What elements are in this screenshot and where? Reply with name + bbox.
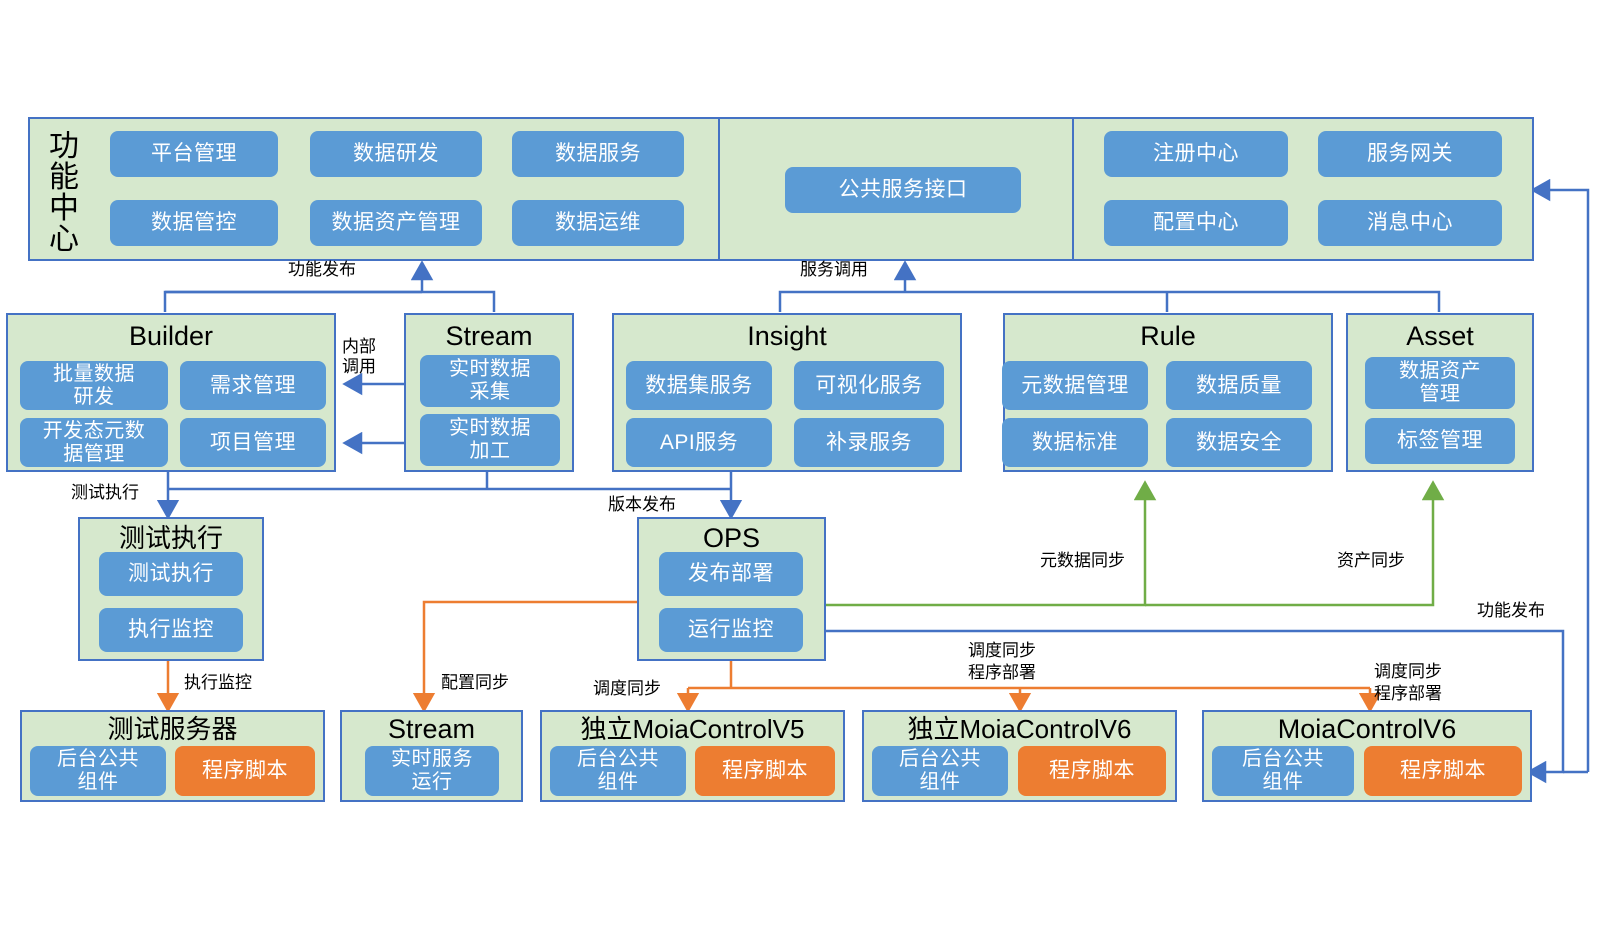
test-exec-chip-exec-monitor[interactable]: 执行监控 — [99, 608, 243, 652]
insight-chip-supplement-service[interactable]: 补录服务 — [794, 418, 944, 467]
fc-chip-public-service-api[interactable]: 公共服务接口 — [785, 167, 1021, 213]
label-schedule-deploy-right: 调度同步 程序部署 — [1374, 661, 1442, 705]
label-schedule-sync: 调度同步 — [593, 678, 661, 699]
fc-chip-data-ops[interactable]: 数据运维 — [512, 200, 684, 246]
moia-v6-chip-program-script[interactable]: 程序脚本 — [1364, 746, 1522, 796]
label-schedule-deploy-mid: 调度同步 程序部署 — [968, 640, 1036, 684]
server-moia-v6-standalone-title: 独立MoiaControlV6 — [864, 714, 1175, 744]
ops-chip-runtime-monitor[interactable]: 运行监控 — [659, 608, 803, 652]
rule-chip-data-quality[interactable]: 数据质量 — [1166, 361, 1312, 410]
label-version-publish: 版本发布 — [608, 494, 676, 515]
function-center-label: 功 能 中 心 — [42, 131, 86, 255]
fc-chip-message-center[interactable]: 消息中心 — [1318, 200, 1502, 246]
builder-chip-dev-metadata-mgmt[interactable]: 开发态元数 据管理 — [20, 418, 168, 467]
label-exec-monitor: 执行监控 — [184, 672, 252, 693]
fc-separator-2 — [1072, 117, 1074, 261]
label-feature-publish-top: 功能发布 — [288, 259, 356, 280]
asset-chip-data-asset-mgmt[interactable]: 数据资产 管理 — [1365, 357, 1515, 409]
moia-v6-standalone-chip-backend-common[interactable]: 后台公共 组件 — [872, 746, 1008, 796]
architecture-diagram: 功 能 中 心 平台管理 数据研发 数据服务 数据管控 数据资产管理 数据运维 … — [0, 0, 1611, 940]
builder-chip-batch-data-dev[interactable]: 批量数据 研发 — [20, 361, 168, 410]
rule-chip-metadata-mgmt[interactable]: 元数据管理 — [1002, 361, 1148, 410]
module-rule-title: Rule — [1005, 321, 1331, 351]
fc-chip-data-dev[interactable]: 数据研发 — [310, 131, 482, 177]
test-server-chip-backend-common[interactable]: 后台公共 组件 — [30, 746, 166, 796]
asset-chip-tag-mgmt[interactable]: 标签管理 — [1365, 418, 1515, 464]
fc-separator-1 — [718, 117, 720, 261]
fc-chip-platform-mgmt[interactable]: 平台管理 — [110, 131, 278, 177]
fc-chip-data-service[interactable]: 数据服务 — [512, 131, 684, 177]
test-exec-chip-test-exec[interactable]: 测试执行 — [99, 552, 243, 596]
ops-chip-release-deploy[interactable]: 发布部署 — [659, 552, 803, 596]
builder-chip-project-mgmt[interactable]: 项目管理 — [180, 418, 326, 467]
server-moia-v6-title: MoiaControlV6 — [1204, 714, 1530, 744]
label-test-exec: 测试执行 — [71, 482, 139, 503]
label-config-sync: 配置同步 — [441, 672, 509, 693]
server-test-server-title: 测试服务器 — [22, 714, 323, 744]
stream-chip-realtime-process[interactable]: 实时数据 加工 — [420, 414, 560, 466]
moia-v6-standalone-chip-program-script[interactable]: 程序脚本 — [1018, 746, 1166, 796]
label-asset-sync: 资产同步 — [1337, 550, 1405, 571]
server-stream-title: Stream — [342, 714, 521, 744]
fc-chip-service-gateway[interactable]: 服务网关 — [1318, 131, 1502, 177]
insight-chip-visualization-service[interactable]: 可视化服务 — [794, 361, 944, 410]
module-asset-title: Asset — [1348, 321, 1532, 351]
moia-v5-chip-backend-common[interactable]: 后台公共 组件 — [550, 746, 686, 796]
moia-v5-chip-program-script[interactable]: 程序脚本 — [695, 746, 835, 796]
fc-chip-registry-center[interactable]: 注册中心 — [1104, 131, 1288, 177]
rule-chip-data-security[interactable]: 数据安全 — [1166, 418, 1312, 467]
fc-chip-data-asset-mgmt[interactable]: 数据资产管理 — [310, 200, 482, 246]
module-stream-title: Stream — [406, 321, 572, 351]
fc-chip-config-center[interactable]: 配置中心 — [1104, 200, 1288, 246]
stream-chip-realtime-collect[interactable]: 实时数据 采集 — [420, 355, 560, 407]
label-feature-publish-right: 功能发布 — [1477, 600, 1545, 621]
server-moia-v5-title: 独立MoiaControlV5 — [542, 714, 843, 744]
module-builder-title: Builder — [8, 321, 334, 351]
label-service-call: 服务调用 — [800, 259, 868, 280]
module-ops-title: OPS — [639, 523, 824, 553]
fc-chip-data-control[interactable]: 数据管控 — [110, 200, 278, 246]
stream-server-chip-realtime-runtime[interactable]: 实时服务 运行 — [365, 746, 499, 796]
test-server-chip-program-script[interactable]: 程序脚本 — [175, 746, 315, 796]
label-internal-call: 内部 调用 — [342, 337, 376, 377]
module-test-exec-title: 测试执行 — [80, 523, 262, 553]
moia-v6-chip-backend-common[interactable]: 后台公共 组件 — [1212, 746, 1354, 796]
label-metadata-sync: 元数据同步 — [1040, 550, 1125, 571]
module-insight-title: Insight — [614, 321, 960, 351]
builder-chip-requirement-mgmt[interactable]: 需求管理 — [180, 361, 326, 410]
insight-chip-dataset-service[interactable]: 数据集服务 — [626, 361, 772, 410]
insight-chip-api-service[interactable]: API服务 — [626, 418, 772, 467]
rule-chip-data-standard[interactable]: 数据标准 — [1002, 418, 1148, 467]
